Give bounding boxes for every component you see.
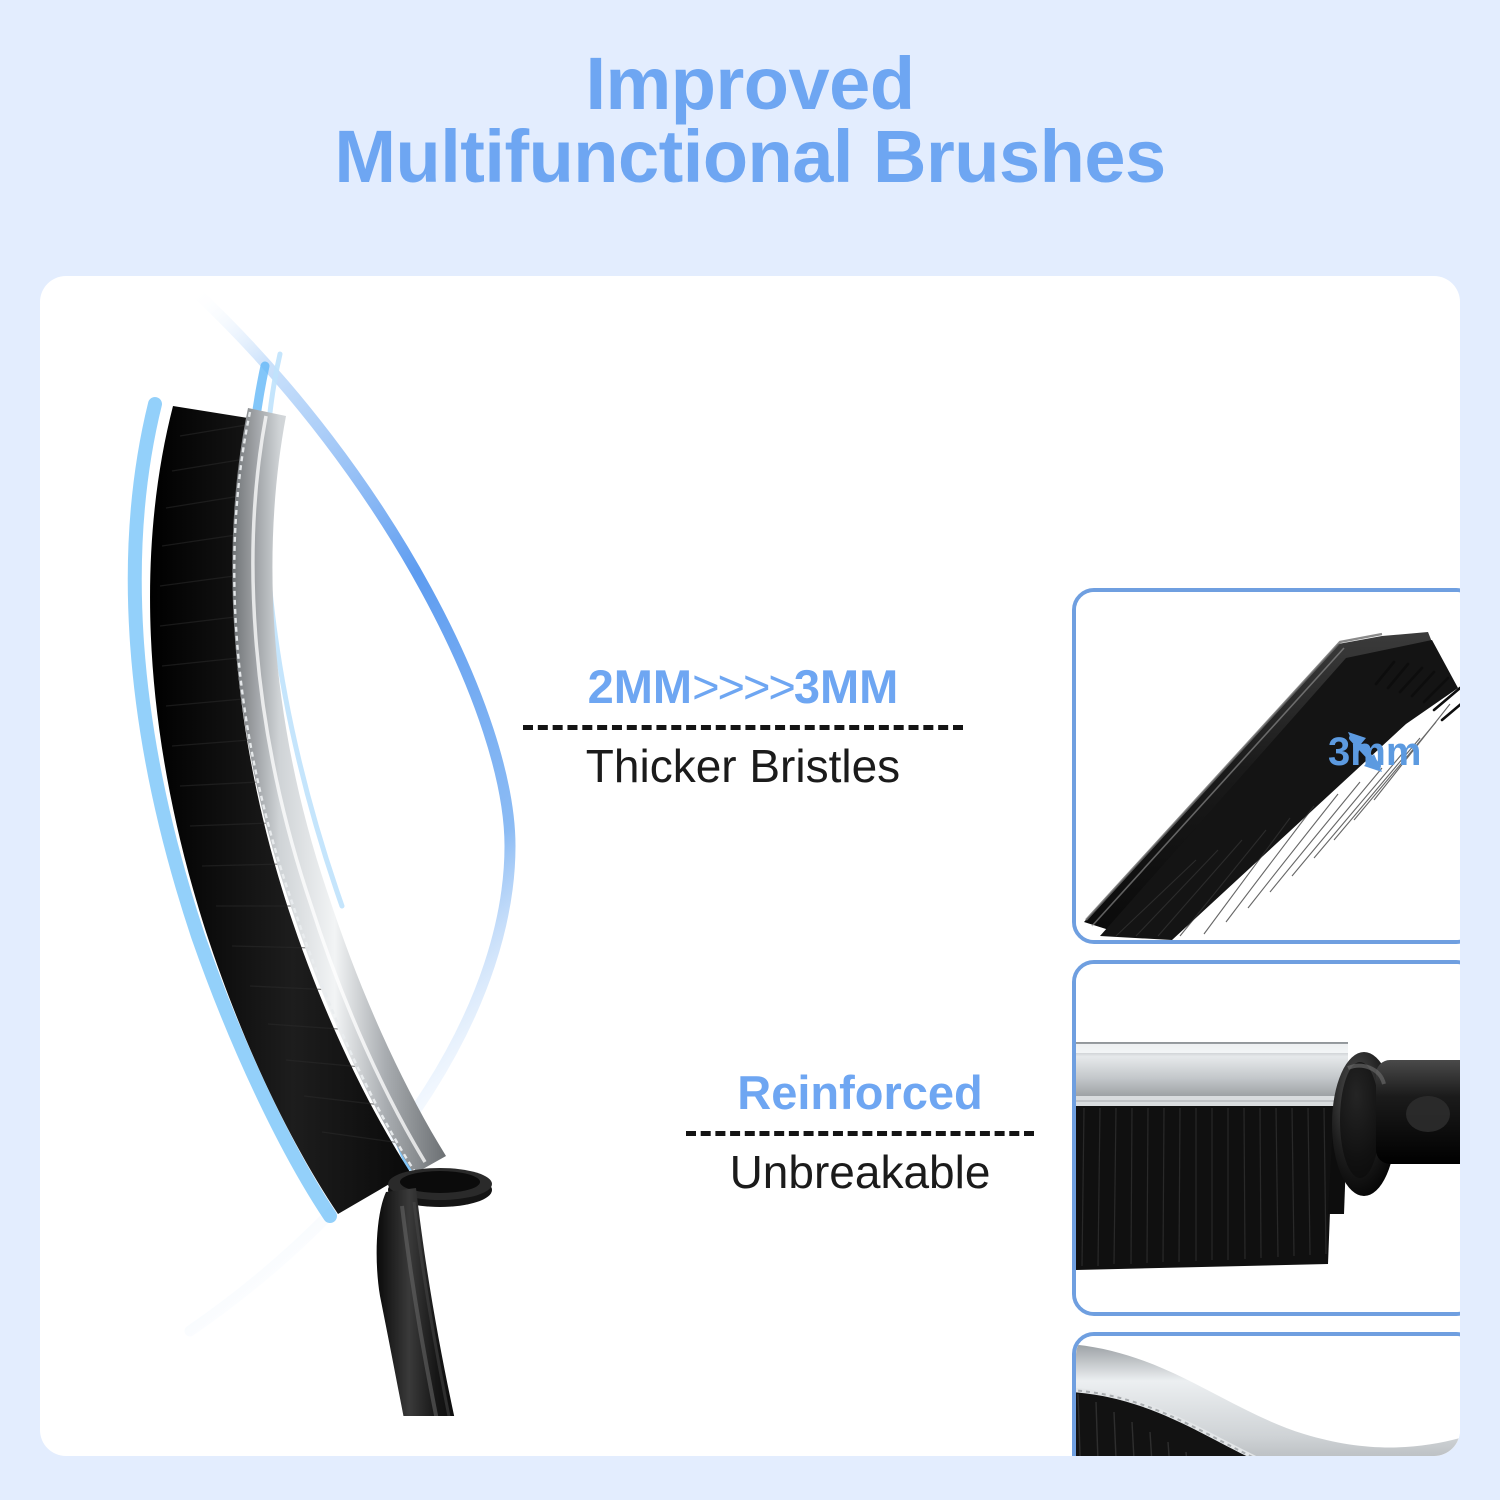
feature-value-before: Reinforced xyxy=(737,1066,983,1119)
dashed-divider xyxy=(686,1131,1034,1136)
product-brush-image xyxy=(80,296,550,1416)
panel-bristle-length: 15mm xyxy=(1072,1332,1460,1456)
content-card: 2MM>>>>3MM Thicker Bristles Reinforced U… xyxy=(40,276,1460,1456)
bristle-thickness-photo xyxy=(1076,592,1460,940)
feature-reinforced: Reinforced Unbreakable xyxy=(670,1068,1050,1199)
feature-arrows: >>>> xyxy=(692,660,794,713)
feature-subtitle: Thicker Bristles xyxy=(508,740,978,793)
feature-value-after: 3MM xyxy=(794,660,898,713)
feature-value-before: 2MM xyxy=(588,660,692,713)
bristle-length-photo xyxy=(1076,1336,1460,1456)
title-line-1: Improved xyxy=(0,48,1500,121)
product-photo-area xyxy=(40,276,740,1456)
page-title: Improved Multifunctional Brushes xyxy=(0,48,1500,193)
title-line-2: Multifunctional Brushes xyxy=(0,121,1500,194)
panel-bristle-thickness: 3mm xyxy=(1072,588,1460,944)
handle-joint-photo xyxy=(1076,964,1460,1312)
feature-subtitle: Unbreakable xyxy=(670,1146,1050,1199)
feature-thicker-bristles: 2MM>>>>3MM Thicker Bristles xyxy=(508,662,978,793)
panel-reinforced-joint xyxy=(1072,960,1460,1316)
infographic-stage: Improved Multifunctional Brushes xyxy=(0,0,1500,1500)
feature-headline: Reinforced xyxy=(670,1068,1050,1117)
feature-headline: 2MM>>>>3MM xyxy=(508,662,978,711)
dashed-divider xyxy=(523,725,963,730)
